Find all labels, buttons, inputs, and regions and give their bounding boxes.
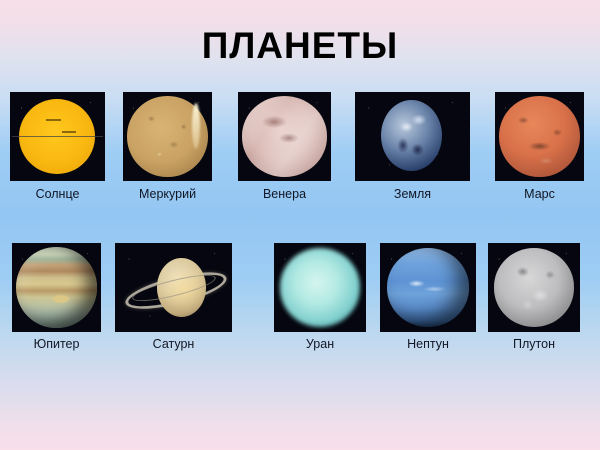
jupiter-great-red-spot [53, 295, 69, 303]
caption-venus: Венера [238, 187, 331, 201]
mars-image [495, 92, 584, 181]
caption-mercury: Меркурий [118, 187, 217, 201]
sun-annotation-upper [46, 119, 61, 121]
mercury-image [123, 92, 212, 181]
pluto-disk [494, 248, 575, 326]
neptune-disk [387, 248, 470, 326]
jupiter-disk [16, 247, 96, 327]
saturn-image [115, 243, 232, 332]
caption-pluto: Плутон [488, 337, 580, 351]
jupiter-shading [16, 247, 96, 327]
caption-earth: Земля [355, 187, 470, 201]
jupiter-image [12, 243, 101, 332]
neptune-image [380, 243, 476, 332]
sun-image [10, 92, 105, 181]
page-title: ПЛАНЕТЫ [0, 24, 600, 68]
venus-image [238, 92, 331, 181]
uranus-image [274, 243, 366, 332]
neptune-shading [387, 248, 470, 326]
mars-disk [499, 96, 579, 176]
sun-annotation-lower [62, 131, 75, 133]
uranus-disk [280, 248, 361, 326]
pluto-image [488, 243, 580, 332]
sun-equator-line [12, 136, 103, 137]
caption-saturn: Сатурн [115, 337, 232, 351]
caption-jupiter: Юпитер [8, 337, 105, 351]
mercury-highlight [192, 103, 200, 149]
caption-sun: Солнце [10, 187, 105, 201]
earth-image [355, 92, 470, 181]
caption-uranus: Уран [274, 337, 366, 351]
planets-slide: ПЛАНЕТЫ Солнце Меркурий Венера Земля Мар… [0, 0, 600, 450]
venus-disk [242, 96, 328, 176]
caption-mars: Марс [495, 187, 584, 201]
caption-neptune: Нептун [380, 337, 476, 351]
